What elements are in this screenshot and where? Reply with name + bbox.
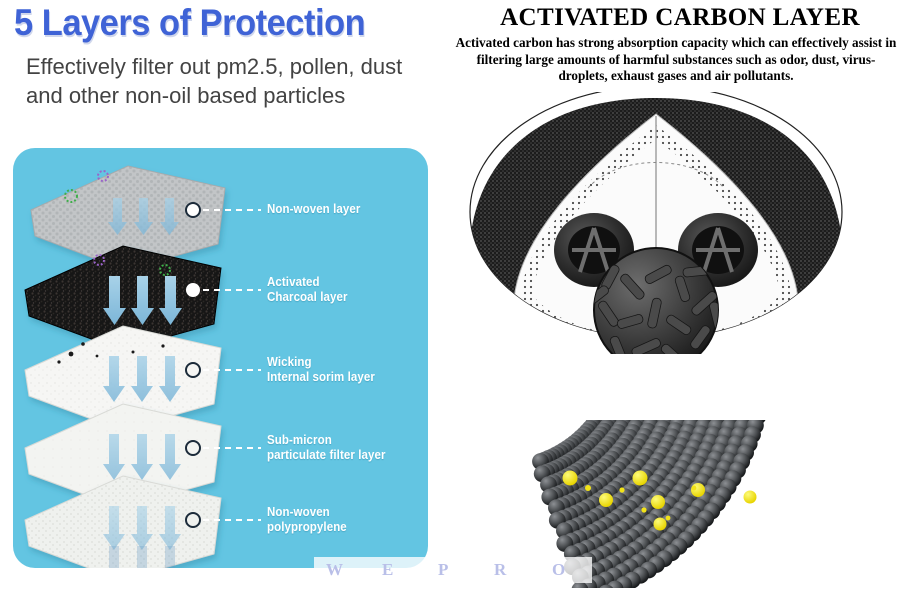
- infographic-canvas: 5 Layers of Protection Effectively filte…: [0, 0, 900, 590]
- layer3-marker-dot: [186, 363, 200, 377]
- layer-label-submicron: Sub-micron particulate filter layer: [267, 433, 386, 463]
- layer2-arrows: [103, 276, 182, 325]
- watermark-letter-e: E: [382, 560, 393, 580]
- layer-label-wicking: Wicking Internal sorim layer: [267, 355, 375, 385]
- layer5-marker-dot: [186, 513, 200, 527]
- watermark: W E P R O: [314, 557, 592, 583]
- watermark-letter-p: P: [438, 560, 448, 580]
- layer-label-polypropylene: Non-woven polypropylene: [267, 505, 347, 535]
- layers-diagram-panel: Non-woven layer Activated Charcoal layer…: [13, 148, 428, 568]
- layer5-arrows: [103, 506, 181, 550]
- activated-carbon-description: Activated carbon has strong absorption c…: [452, 35, 900, 85]
- layer3-arrows: [103, 356, 181, 402]
- layer4-marker-dot: [186, 441, 200, 455]
- watermark-letter-o: O: [552, 560, 565, 580]
- page-subtitle: Effectively filter out pm2.5, pollen, du…: [26, 52, 426, 110]
- layer4-arrows: [103, 434, 181, 480]
- layer2-marker-dot: [186, 283, 200, 297]
- exit-arrows: [103, 546, 181, 568]
- mask-illustration: [468, 92, 844, 354]
- watermark-letter-w: W: [326, 560, 343, 580]
- page-title: 5 Layers of Protection: [14, 2, 414, 44]
- layers-stack: Non-woven layer Activated Charcoal layer…: [13, 148, 428, 568]
- layer-label-non-woven: Non-woven layer: [267, 202, 360, 217]
- watermark-letter-r: R: [494, 560, 506, 580]
- layer1-arrows: [108, 198, 179, 235]
- mask-photo: [468, 92, 844, 354]
- activated-carbon-heading: ACTIVATED CARBON LAYER: [460, 4, 900, 32]
- layer1-marker-dot: [186, 203, 200, 217]
- layer-label-charcoal: Activated Charcoal layer: [267, 275, 348, 305]
